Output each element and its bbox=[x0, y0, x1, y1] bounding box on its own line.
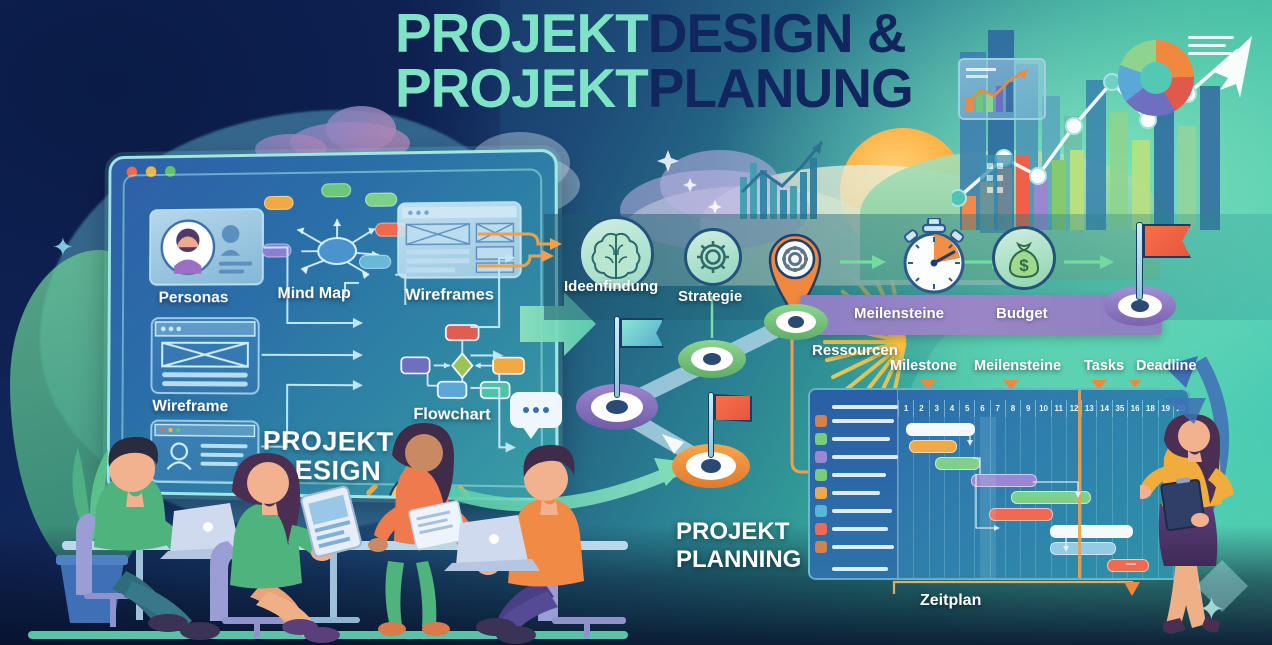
label-mind-map: Mind Map bbox=[277, 285, 350, 303]
mind-node[interactable] bbox=[321, 183, 351, 197]
people-group bbox=[0, 395, 660, 645]
infographic-canvas: ✦ ✦ bbox=[0, 0, 1272, 645]
gantt-marker-triangle bbox=[1129, 380, 1141, 388]
money-bag-glyph: $ bbox=[1003, 237, 1045, 279]
gantt-label-tasks: Tasks bbox=[1084, 358, 1124, 374]
sparkle-icon: ✦ bbox=[52, 232, 74, 263]
stopwatch-glyph bbox=[896, 218, 972, 294]
title-projekt-1: PROJEKT bbox=[395, 2, 648, 64]
process-label-strategie: Strategie bbox=[678, 288, 742, 305]
mind-node[interactable] bbox=[262, 243, 292, 257]
planning-heading: PROJEKT PLANNING bbox=[676, 518, 801, 573]
gantt-label-deadline: Deadline bbox=[1136, 358, 1196, 374]
title-design: DESIGN & bbox=[648, 2, 906, 64]
milestone-stone-green-2[interactable] bbox=[764, 304, 828, 340]
page-title: PROJEKTDESIGN & PROJEKTPLANUNG bbox=[395, 6, 913, 116]
mind-node[interactable] bbox=[359, 255, 391, 269]
mind-node[interactable] bbox=[365, 192, 397, 206]
flagpole bbox=[614, 316, 620, 398]
flag-icon-red bbox=[714, 394, 752, 422]
wireframe-card[interactable] bbox=[150, 317, 259, 395]
person-woman-green bbox=[210, 453, 362, 643]
wireframes-card[interactable] bbox=[397, 201, 522, 279]
donut-hole bbox=[1140, 62, 1172, 94]
chat-bubble-icon bbox=[510, 392, 562, 428]
flagpole-deadline bbox=[1136, 222, 1143, 300]
zeitplan-label: Zeitplan bbox=[920, 592, 981, 610]
gantt-top-labels: Milestone Meilensteine Tasks Deadline bbox=[880, 358, 1200, 378]
planning-heading-line1: PROJEKT bbox=[676, 518, 801, 546]
milestone-stone-green[interactable] bbox=[678, 340, 746, 378]
mind-node[interactable] bbox=[264, 196, 294, 210]
wireframe-graphic bbox=[152, 319, 257, 393]
legend-line bbox=[1188, 36, 1234, 39]
svg-text:$: $ bbox=[1019, 256, 1029, 275]
gantt-dependency-arrows bbox=[808, 388, 1190, 580]
planning-heading-line2: PLANNING bbox=[676, 546, 801, 574]
process-label-budget: Budget bbox=[996, 305, 1048, 322]
legend-line bbox=[1188, 44, 1226, 47]
legend-line bbox=[1188, 52, 1232, 55]
gear-glyph bbox=[694, 238, 732, 276]
label-personas: Personas bbox=[159, 289, 229, 307]
title-line-2: PROJEKTPLANUNG bbox=[395, 61, 913, 116]
process-label-ressourcen: Ressourcen bbox=[812, 342, 898, 359]
personas-card[interactable] bbox=[149, 208, 264, 286]
chat-bubble-tail bbox=[522, 426, 540, 439]
label-wireframes: Wireframes bbox=[405, 286, 494, 304]
flagpole bbox=[708, 392, 714, 458]
persona-avatar bbox=[151, 210, 262, 284]
title-planung: PLANUNG bbox=[648, 57, 913, 119]
chart-monitor-icon bbox=[958, 58, 1046, 120]
person-presenter bbox=[1140, 410, 1260, 640]
gear-icon[interactable] bbox=[684, 228, 742, 286]
cloud-icon bbox=[660, 150, 780, 220]
title-projekt-2: PROJEKT bbox=[395, 57, 648, 119]
money-bag-icon[interactable]: $ bbox=[992, 226, 1056, 290]
wireframes-graphic bbox=[399, 203, 519, 277]
process-label-ideenfindung: Ideenfindung bbox=[564, 278, 658, 295]
process-label-meilensteine: Meilensteine bbox=[854, 305, 944, 322]
title-line-1: PROJEKTDESIGN & bbox=[395, 6, 913, 61]
brain-glyph bbox=[591, 229, 641, 279]
gantt-label-meilensteine: Meilensteine bbox=[974, 358, 1061, 374]
gantt-label-milestone: Milestone bbox=[890, 358, 957, 374]
stopwatch-icon[interactable] bbox=[896, 218, 972, 294]
cloud-icon bbox=[326, 106, 396, 152]
monitor-chart bbox=[960, 60, 1044, 118]
